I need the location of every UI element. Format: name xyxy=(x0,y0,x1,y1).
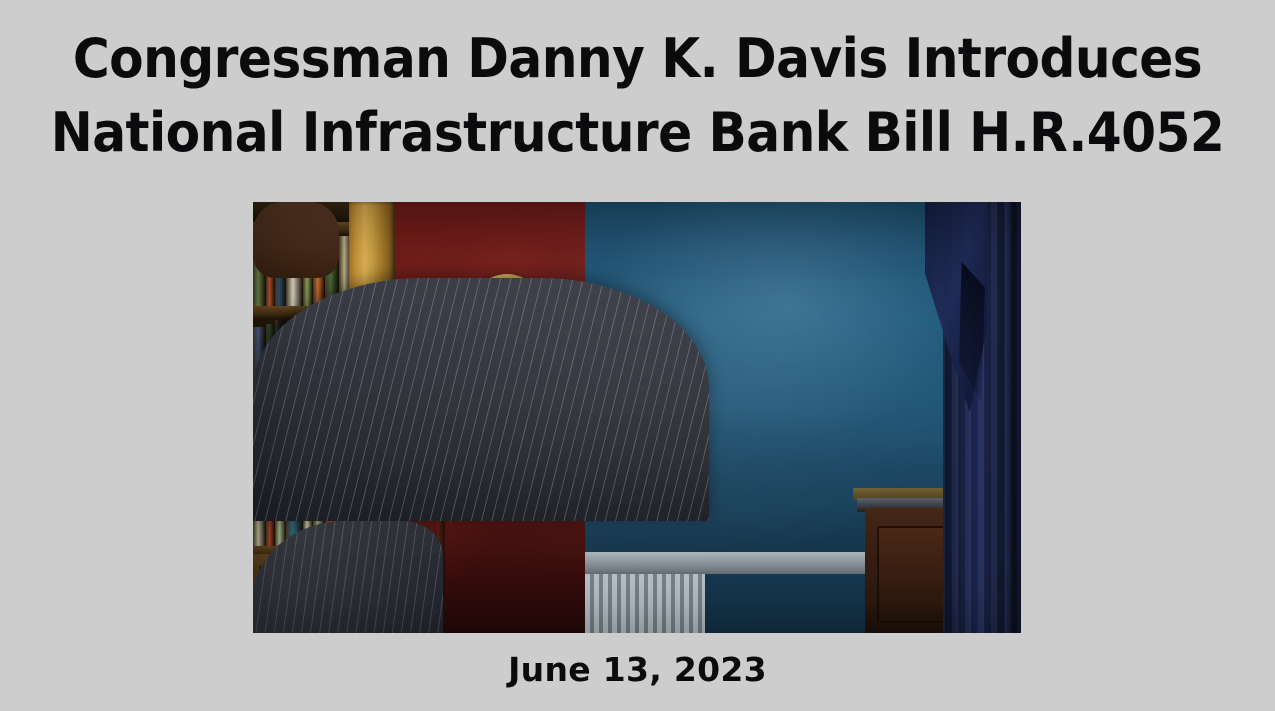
slide-title: Congressman Danny K. Davis Introduces Na… xyxy=(0,22,1275,170)
suit-shoulder-left xyxy=(253,521,443,633)
presentation-slide: Congressman Danny K. Davis Introduces Na… xyxy=(0,0,1275,711)
title-line-1: Congressman Danny K. Davis Introduces xyxy=(45,22,1231,96)
date-text: June 13, 2023 xyxy=(0,650,1275,690)
slide-date: June 13, 2023 xyxy=(0,650,1275,690)
suit-torso xyxy=(253,278,709,521)
title-line-2: National Infrastructure Bank Bill H.R.40… xyxy=(45,96,1231,170)
congressman-photo xyxy=(253,202,1021,633)
neck xyxy=(253,202,339,278)
congressman-figure xyxy=(253,202,1021,633)
